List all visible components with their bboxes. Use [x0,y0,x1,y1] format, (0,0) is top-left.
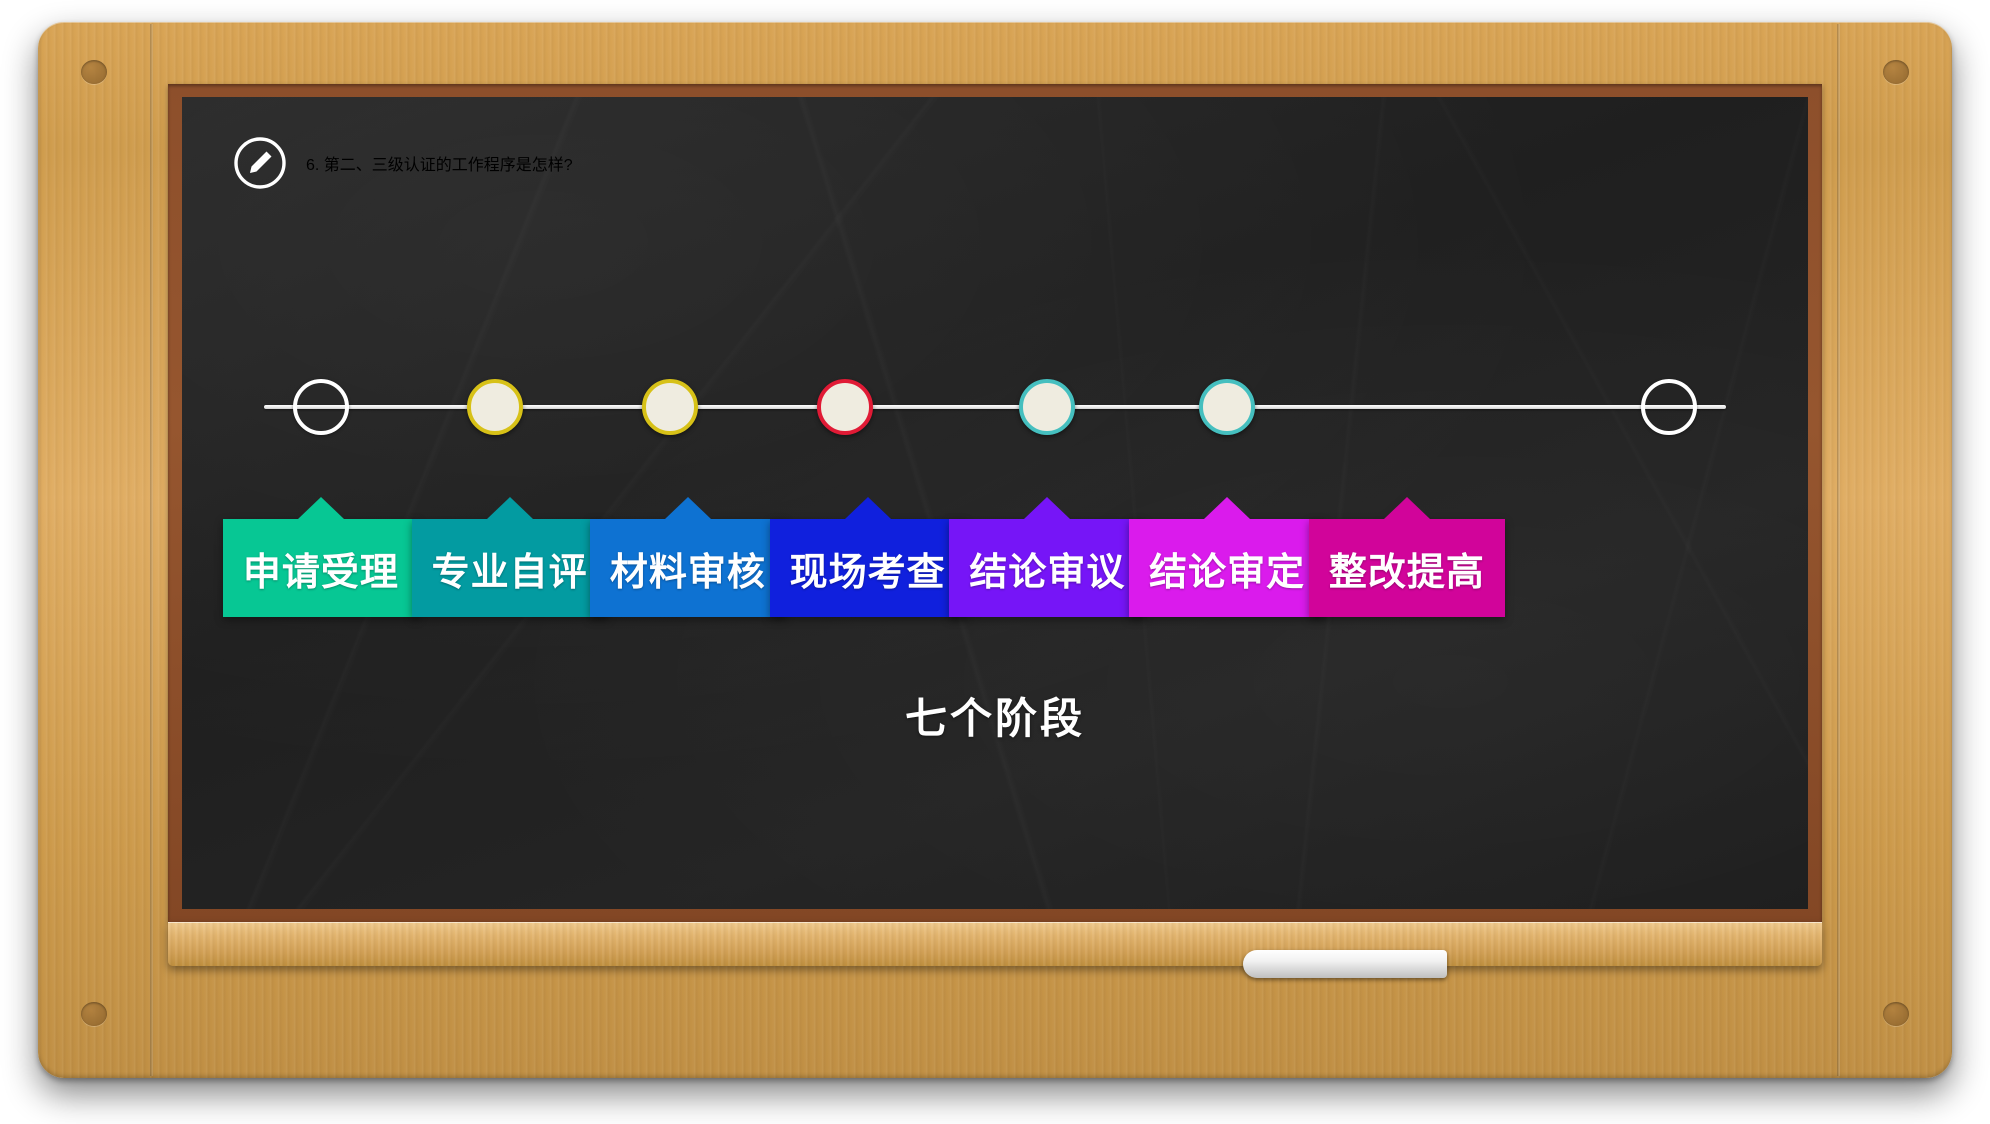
frame-screw-top-left [81,60,107,84]
stage-card-2[interactable]: 专业自评 [412,519,608,617]
frame-screw-bottom-right [1883,1002,1909,1026]
stage-pointer-5 [1024,497,1070,519]
stage-card-7[interactable]: 整改提高 [1309,519,1505,617]
chalk-stick[interactable] [1243,950,1447,978]
frame-plank-divider-left [150,24,153,1076]
chalkboard-surface: 6. 第二、三级认证的工作程序是怎样? 申请受理 [182,97,1808,909]
frame-screw-bottom-left [81,1002,107,1026]
stage-card-1[interactable]: 申请受理 [223,519,419,617]
stage-pointer-6 [1204,497,1250,519]
stage-label-row: 申请受理 专业自评 材料审核 现场考查 结论审议 [246,497,1744,617]
page-title: 6. 第二、三级认证的工作程序是怎样? [306,151,573,175]
frame-plank-divider-right [1837,24,1840,1076]
timeline-node-6[interactable] [1199,379,1255,435]
chalkboard-wooden-frame: 6. 第二、三级认证的工作程序是怎样? 申请受理 [38,22,1952,1078]
chalkboard-inner-trim: 6. 第二、三级认证的工作程序是怎样? 申请受理 [168,84,1822,922]
stage-pointer-4 [845,497,891,519]
chalk-ledge [168,922,1822,966]
timeline-node-4[interactable] [817,379,873,435]
timeline-node-7[interactable] [1641,379,1697,435]
stage-card-5[interactable]: 结论审议 [949,519,1145,617]
stage-label-3: 材料审核 [610,541,766,596]
stage-card-4[interactable]: 现场考查 [770,519,966,617]
timeline-node-2[interactable] [467,379,523,435]
stage-pointer-1 [298,497,344,519]
stage-pointer-3 [665,497,711,519]
timeline-node-5[interactable] [1019,379,1075,435]
stage-count-caption: 七个阶段 [182,685,1808,746]
stage-label-2: 专业自评 [432,541,588,596]
timeline-node-1[interactable] [293,379,349,435]
stage-card-3[interactable]: 材料审核 [590,519,786,617]
stage-card-6[interactable]: 结论审定 [1129,519,1325,617]
stage-label-5: 结论审议 [969,541,1125,596]
stage-label-7: 整改提高 [1329,541,1485,596]
stage-pointer-7 [1384,497,1430,519]
stage-label-4: 现场考查 [790,541,946,596]
stage-label-6: 结论审定 [1149,541,1305,596]
stage-label-1: 申请受理 [243,541,399,596]
pencil-icon [232,135,288,191]
frame-screw-top-right [1883,60,1909,84]
slide-title-row: 6. 第二、三级认证的工作程序是怎样? [232,135,573,191]
process-timeline [246,347,1744,467]
stage-pointer-2 [487,497,533,519]
timeline-node-3[interactable] [642,379,698,435]
